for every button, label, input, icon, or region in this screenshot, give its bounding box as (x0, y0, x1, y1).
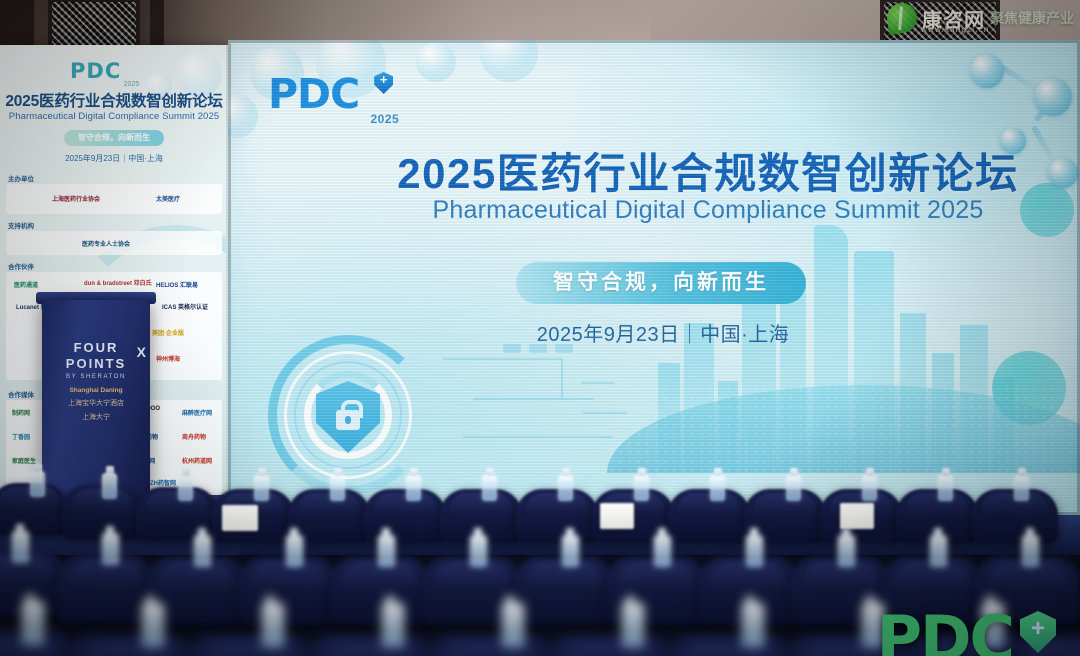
poster-date-location: 2025年9月23日｜中国·上海 (0, 153, 228, 164)
water-bottle (102, 533, 119, 565)
podium-brand-cn: 上海宝华大宁酒店 (54, 398, 138, 408)
podium-brand-line2: POINTS (54, 356, 138, 371)
media-logo: 制药网 (12, 408, 30, 417)
water-bottle (558, 475, 573, 501)
seat (606, 557, 706, 625)
water-bottle (286, 535, 303, 567)
water-bottle (406, 475, 421, 501)
screen-frame (228, 40, 1080, 515)
water-bottle (746, 535, 763, 567)
water-bottle (22, 601, 44, 645)
podium-brand-plate: FOUR POINTS BY SHERATON Shanghai Daning … (54, 340, 138, 422)
wall-texture-panel (52, 2, 136, 50)
seat (330, 557, 430, 625)
water-bottle (1014, 475, 1029, 501)
media-logo: 麻醉医疗网 (182, 408, 212, 417)
seat (364, 489, 446, 543)
conference-photo-scene: PDC 2025 2025医药行业合规数智创新论坛 Pharmaceutical… (0, 0, 1080, 656)
sponsor-logo: ICAS 英格尔认证 (162, 302, 208, 311)
water-bottle (1022, 535, 1039, 567)
poster-title-cn: 2025医药行业合规数智创新论坛 (0, 89, 228, 111)
pdc-bottom-brand: PDC (877, 608, 1056, 656)
name-card (222, 505, 258, 531)
water-bottle (142, 603, 164, 647)
water-bottle (102, 473, 117, 499)
seat (56, 555, 154, 623)
water-bottle (30, 471, 45, 497)
sponsor-logo: 医药专业人士协会 (82, 239, 130, 248)
water-bottle (710, 475, 725, 501)
water-bottle (838, 535, 855, 567)
poster-section-label-support: 支持机构 (8, 220, 34, 230)
sponsor-logo: 太美医疗 (156, 194, 180, 203)
water-bottle (470, 535, 487, 567)
seat (306, 635, 434, 656)
sponsor-logo: 上海医药行业协会 (52, 194, 100, 203)
watermark-url: www.kangzi.cn (921, 25, 990, 34)
water-bottle (634, 475, 649, 501)
seat (426, 635, 554, 656)
shield-plus-icon (1020, 611, 1056, 653)
seat (516, 489, 598, 543)
name-card (840, 503, 874, 529)
poster-section-label-media: 合作媒体 (8, 389, 34, 399)
seat (66, 635, 194, 656)
water-bottle (194, 535, 211, 567)
seat (186, 635, 314, 656)
water-bottle (262, 603, 284, 647)
watermark-tagline: 聚焦健康产业 (990, 8, 1074, 28)
poster-slogan: 智守合规，向新而生 (64, 130, 164, 146)
seat (136, 487, 218, 541)
water-bottle (502, 603, 524, 647)
poster-logo-text: PDC (70, 59, 121, 83)
seat (546, 635, 674, 656)
water-bottle (254, 475, 269, 501)
water-bottle (178, 475, 193, 501)
water-bottle (786, 475, 801, 501)
water-bottle (742, 603, 764, 647)
water-bottle (562, 535, 579, 567)
poster-section-label-organizer: 主办单位 (8, 173, 34, 183)
seat (238, 557, 338, 625)
water-bottle (482, 475, 497, 501)
site-watermark: 康咨网 聚焦健康产业 www.kangzi.cn (887, 3, 1074, 33)
poster-section-box-organizer: 上海医药行业协会 太美医疗 (6, 184, 222, 214)
poster-title-en: Pharmaceutical Digital Compliance Summit… (0, 111, 228, 122)
podium-brand-line3: BY SHERATON (54, 374, 138, 380)
pdc-bottom-brand-text: PDC (877, 608, 1013, 656)
water-bottle (622, 603, 644, 647)
poster-section-box-support: 医药专业人士协会 (6, 231, 222, 255)
podium-brand-line1: FOUR (54, 340, 138, 355)
leaf-icon (885, 1, 919, 35)
water-bottle (382, 603, 404, 647)
poster-logo: PDC 2025 (70, 59, 121, 83)
water-bottle (862, 475, 877, 501)
main-led-screen: PDC 2025 2025医药行业合规数智创新论坛 Pharmaceutical… (228, 40, 1080, 515)
podium-brand-cn2: 上海大宁 (54, 412, 138, 422)
seat (666, 635, 794, 656)
water-bottle (654, 535, 671, 567)
water-bottle (330, 475, 345, 501)
podium-mark-icon: X (137, 344, 146, 360)
sponsor-logo: 神州博海 (156, 354, 180, 363)
sponsor-logo: 医药通道 (14, 280, 38, 289)
sponsor-logo: HELIOS 汇联易 (156, 280, 198, 289)
water-bottle (930, 535, 947, 567)
podium-brand-line4: Shanghai Daning (54, 387, 138, 394)
poster-logo-year: 2025 (124, 81, 140, 88)
water-bottle (12, 531, 29, 563)
media-logo: 商舟药物 (182, 432, 206, 441)
water-bottle (378, 535, 395, 567)
poster-section-label-partners: 合作伙伴 (8, 261, 34, 271)
name-card (600, 503, 634, 529)
media-logo: 丁香园 (12, 432, 30, 441)
sponsor-logo: dun & bradstreet 邓白氏 (84, 278, 152, 287)
seat (514, 557, 614, 625)
water-bottle (938, 475, 953, 501)
seat (668, 489, 750, 543)
sponsor-logo: 美团·企业版 (152, 328, 184, 337)
